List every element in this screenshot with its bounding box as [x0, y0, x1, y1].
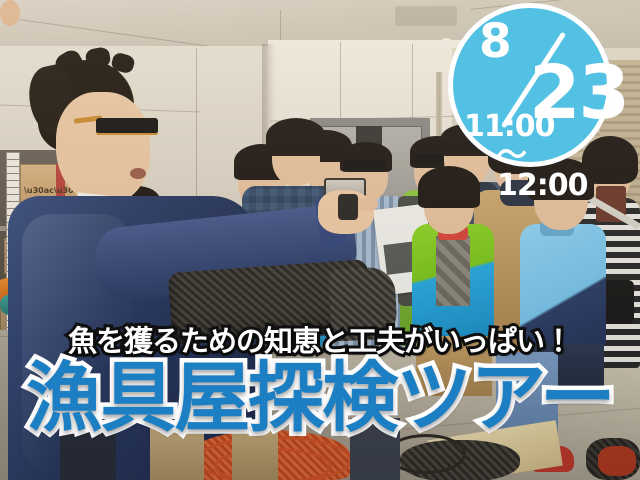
held-object [338, 194, 358, 220]
hair [418, 166, 480, 208]
badge-month: 8 [479, 18, 511, 65]
date-badge: 8 23 11:00 ～12:00 [448, 3, 612, 167]
eyeglasses [344, 160, 386, 170]
title-text: 漁具屋探検ツアー [0, 358, 640, 438]
hair [266, 118, 326, 156]
event-poster: \u30ac\u30fc [0, 0, 640, 480]
person-presenter [0, 0, 20, 26]
jacket-front-print [436, 236, 470, 306]
orange-trap-detail [598, 446, 636, 476]
ear [0, 0, 20, 26]
eyeglasses [96, 118, 158, 135]
face [56, 92, 150, 204]
ceiling-dome-light [440, 38, 453, 48]
badge-time-end: ～12:00 [497, 141, 607, 201]
mouth [130, 168, 146, 179]
ceiling-light-panel [395, 6, 457, 26]
